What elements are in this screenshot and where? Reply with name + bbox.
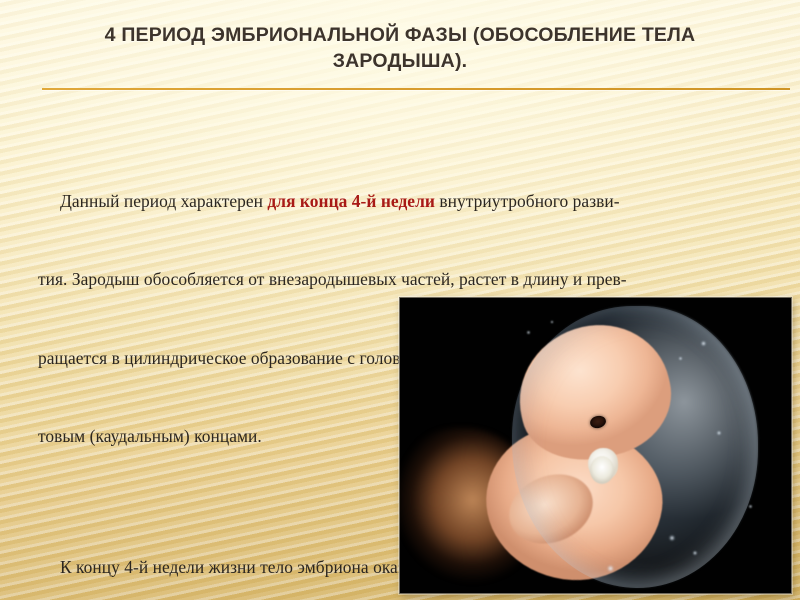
sparkle-icon <box>692 550 698 556</box>
slide-canvas: 4 ПЕРИОД ЭМБРИОНАЛЬНОЙ ФАЗЫ (ОБОСОБЛЕНИЕ… <box>0 0 800 600</box>
embryo-photo-frame <box>399 297 792 594</box>
sparkle-icon <box>716 430 722 436</box>
title-block: 4 ПЕРИОД ЭМБРИОНАЛЬНОЙ ФАЗЫ (ОБОСОБЛЕНИЕ… <box>42 22 758 74</box>
sparkle-icon <box>678 356 683 361</box>
sparkle-icon <box>748 504 753 509</box>
title-divider <box>42 88 790 90</box>
paragraph-1-line-1: Данный период характерен для конца 4-й н… <box>38 188 766 214</box>
amniotic-sac-rim <box>512 306 758 588</box>
sparkle-icon <box>700 340 707 347</box>
sparkle-icon <box>550 320 554 324</box>
paragraph-1-line-2: тия. Зародыш обособляется от внезародыше… <box>38 266 766 292</box>
sparkle-icon <box>668 534 676 542</box>
sparkle-icon <box>606 564 615 573</box>
sparkle-icon <box>526 330 531 335</box>
embryo-photo <box>400 298 791 593</box>
highlight-end-of-fourth-week: для конца 4-й недели <box>267 191 435 211</box>
page-title: 4 ПЕРИОД ЭМБРИОНАЛЬНОЙ ФАЗЫ (ОБОСОБЛЕНИЕ… <box>42 22 758 74</box>
p1-l1-after: внутриутробного разви- <box>435 191 620 211</box>
p1-l1-before: Данный период характерен <box>38 191 267 211</box>
